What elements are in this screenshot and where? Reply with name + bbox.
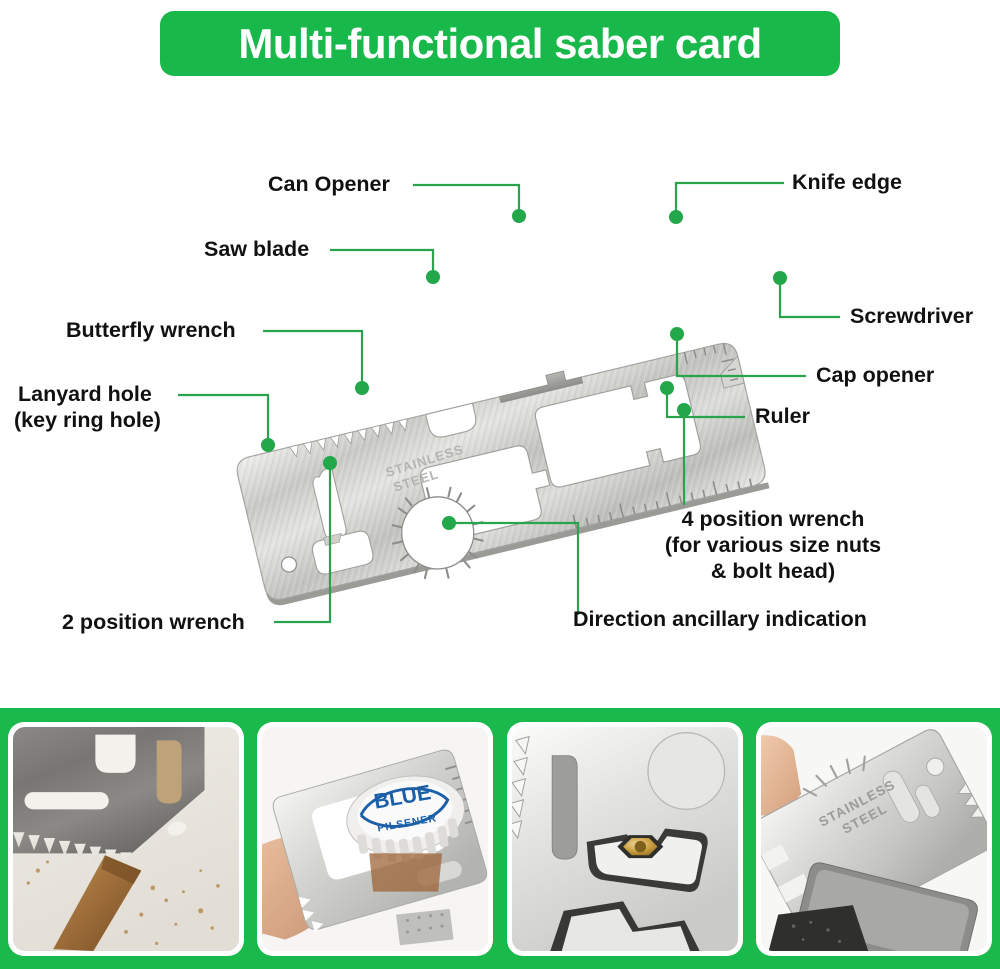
label-lanyard-hole-sub: (key ring hole) (14, 408, 161, 433)
photo-cell-bottle-opener: BLUE PILSENER (257, 722, 493, 956)
dot-direction-indication (442, 516, 456, 530)
leader-butterfly-wrench (263, 331, 362, 385)
label-butterfly-wrench: Butterfly wrench (66, 318, 236, 343)
photo-wrench-nut (512, 727, 738, 951)
dot-screwdriver (773, 271, 787, 285)
dot-cap-opener (670, 327, 684, 341)
label-direction-indication: Direction ancillary indication (573, 607, 867, 632)
leader-lanyard-hole (178, 395, 268, 442)
dot-saw-blade (426, 270, 440, 284)
dot-knife-edge (669, 210, 683, 224)
leader-knife-edge (676, 183, 784, 214)
leader-can-opener (413, 185, 519, 213)
dot-butterfly-wrench (355, 381, 369, 395)
label-can-opener: Can Opener (268, 172, 390, 197)
photo-strip: BLUE PILSENER (0, 708, 1000, 969)
label-knife-edge: Knife edge (792, 170, 902, 195)
label-saw-blade: Saw blade (204, 237, 309, 262)
product-infographic: Multi-functional saber card (0, 0, 1000, 969)
dot-lanyard-hole (261, 438, 275, 452)
dot-ruler (660, 381, 674, 395)
label-screwdriver: Screwdriver (850, 304, 973, 329)
label-cap-opener: Cap opener (816, 363, 934, 388)
label-ruler: Ruler (755, 404, 810, 429)
page-title: Multi-functional saber card (238, 23, 761, 65)
photo-sawing-wood (13, 727, 239, 951)
title-banner: Multi-functional saber card (160, 11, 840, 76)
label-four-position-wrench-line3: & bolt head) (628, 559, 918, 584)
dot-two-position-wrench (323, 456, 337, 470)
photo-bottle-opener: BLUE PILSENER (262, 727, 488, 951)
dot-four-position-wrench (677, 403, 691, 417)
label-four-position-wrench-line2: (for various size nuts (628, 533, 918, 558)
label-lanyard-hole: Lanyard hole (18, 382, 152, 407)
photo-stainless-steel: STAINLESS STEEL (761, 727, 987, 951)
label-two-position-wrench: 2 position wrench (62, 610, 245, 635)
photo-cell-stainless-steel: STAINLESS STEEL (756, 722, 992, 956)
dot-can-opener (512, 209, 526, 223)
leader-screwdriver (780, 281, 840, 317)
photo-cell-sawing-wood (8, 722, 244, 956)
photo-cell-wrench-nut (507, 722, 743, 956)
annotated-product-diagram: STAINLESS STEEL (0, 95, 1000, 695)
leader-saw-blade (330, 250, 433, 274)
label-four-position-wrench-line1: 4 position wrench (628, 507, 918, 532)
